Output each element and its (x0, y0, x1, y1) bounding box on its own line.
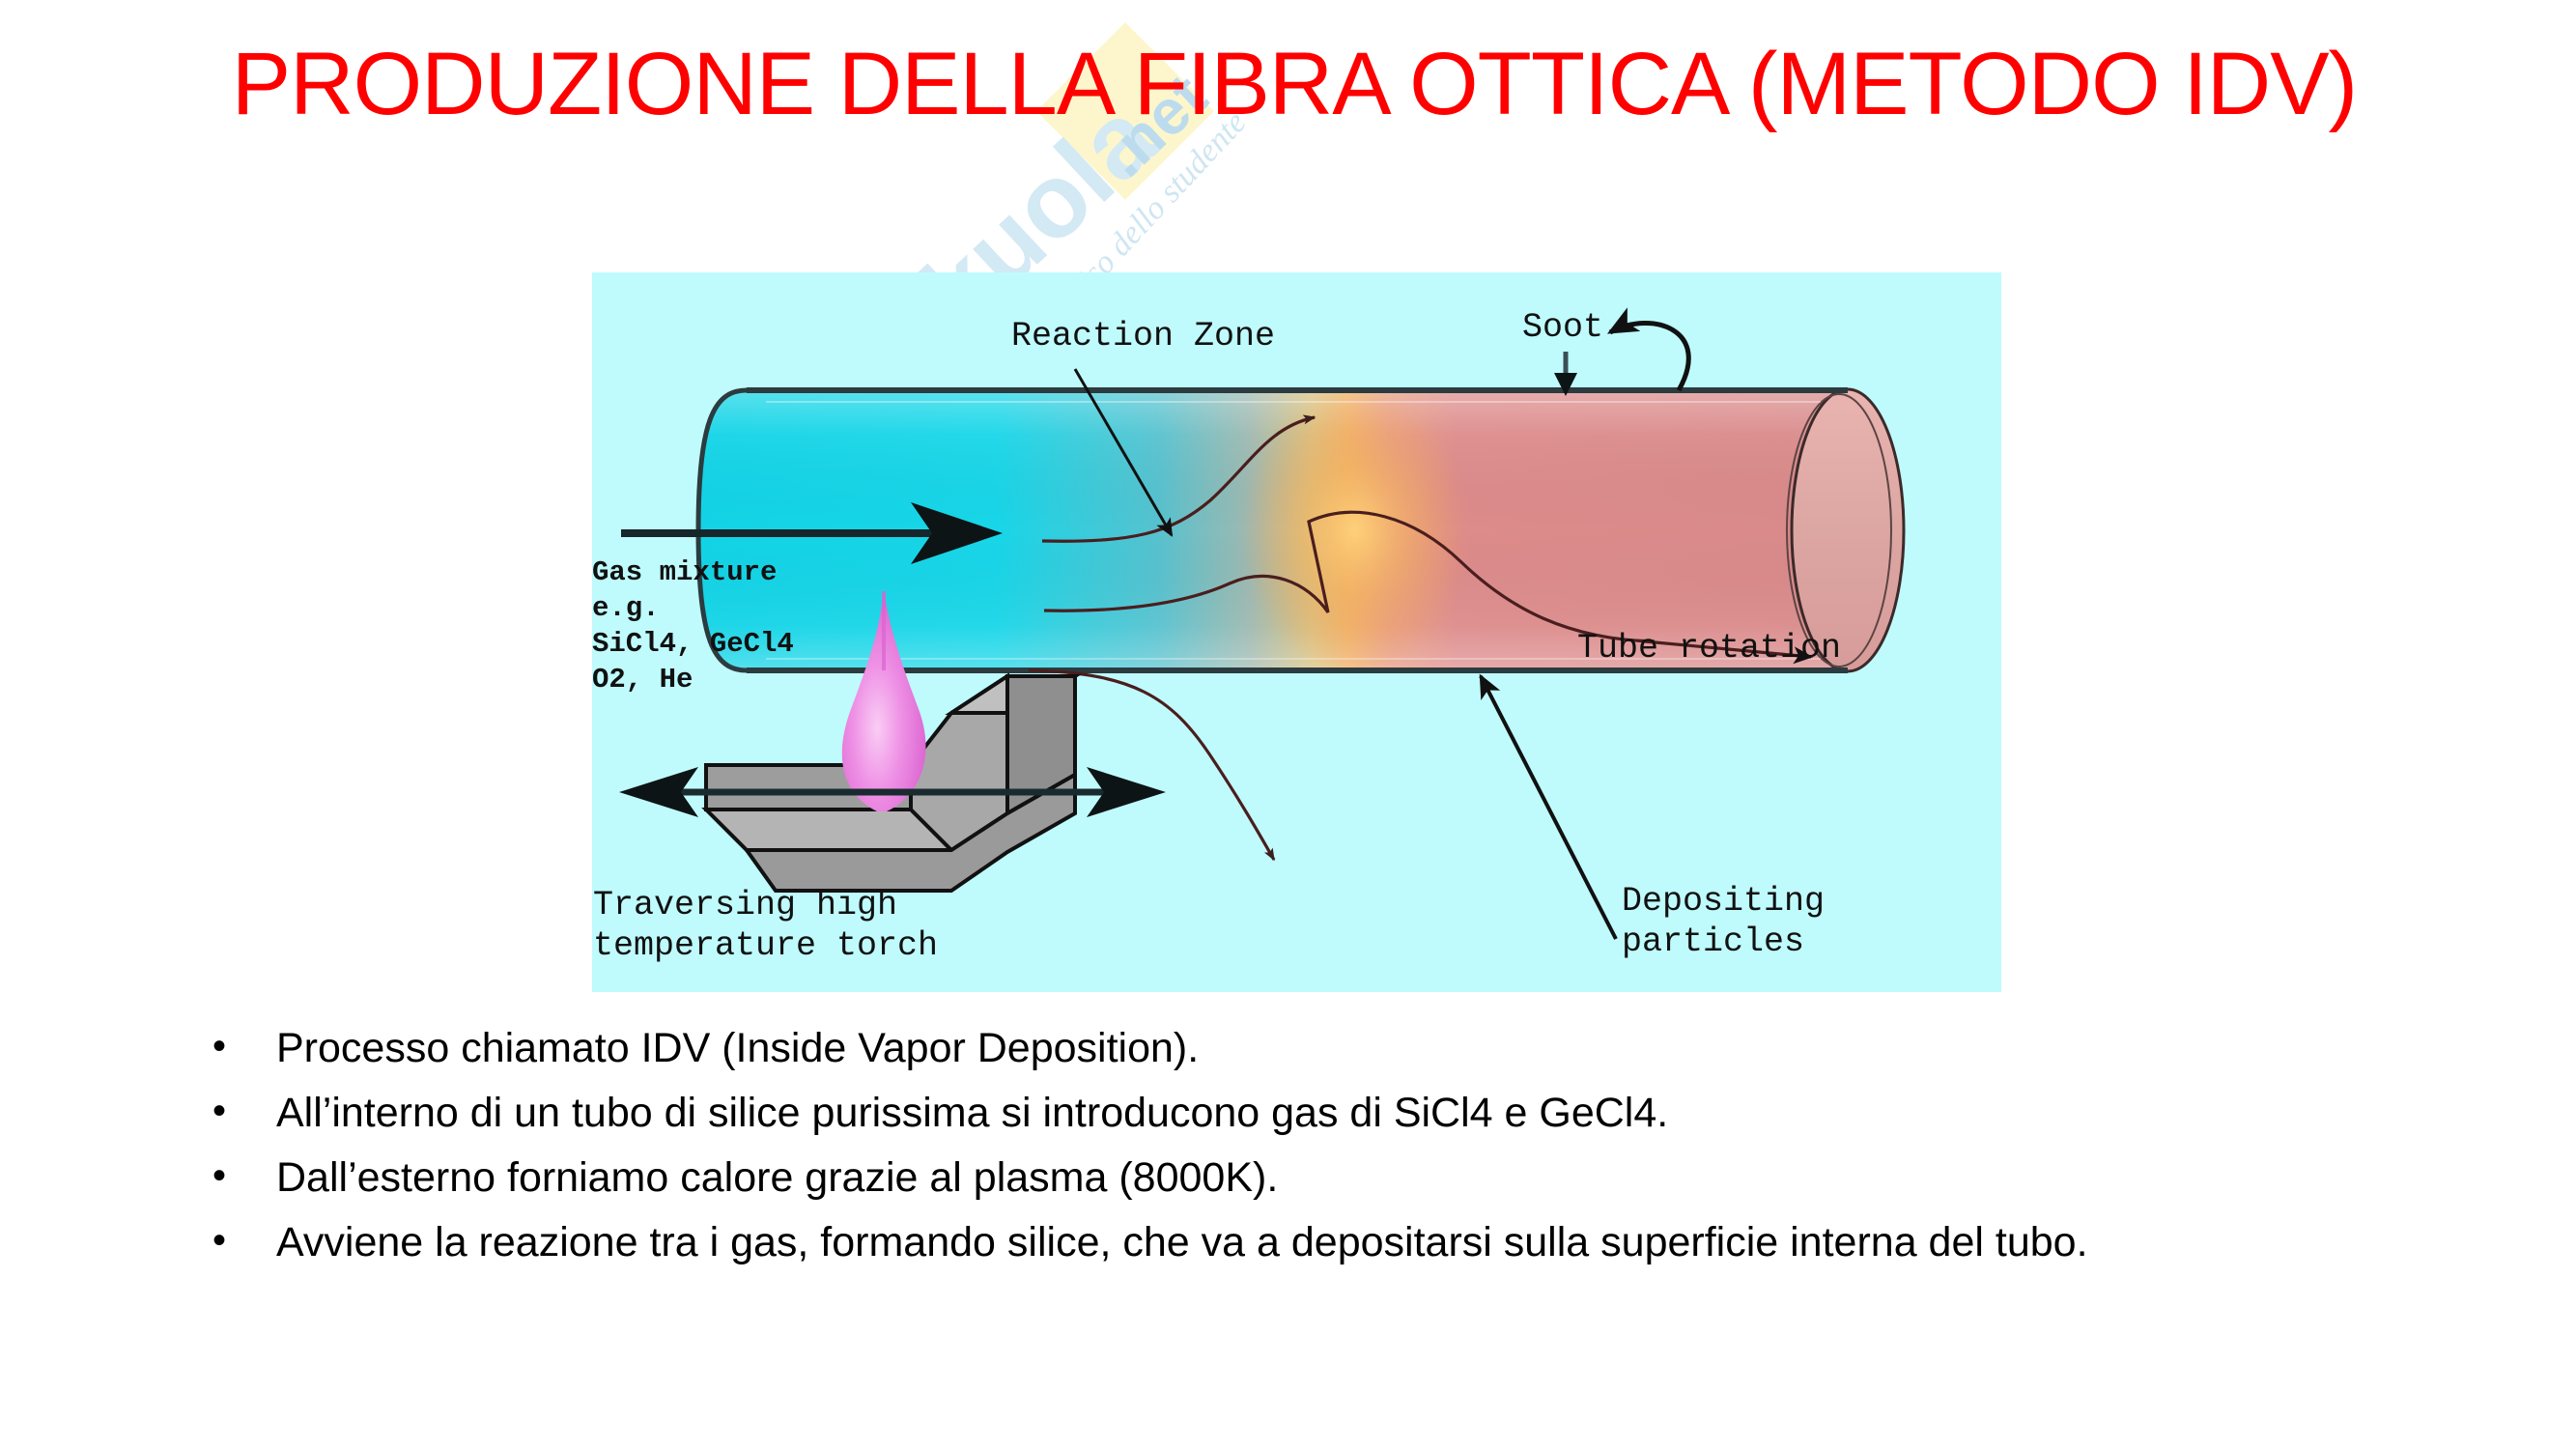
bullet-list: • Processo chiamato IDV (Inside Vapor De… (212, 1019, 2415, 1278)
bullet-marker: • (212, 1149, 276, 1204)
reaction-glow (1239, 385, 1471, 675)
bullet-marker: • (212, 1213, 276, 1268)
list-item: • Dall’esterno forniamo calore grazie al… (212, 1149, 2415, 1207)
gas-label-line1: Gas mixture (592, 556, 777, 588)
idv-process-diagram: Reaction Zone Soot Tube rotation (592, 272, 2001, 992)
torch-label-line2: temperature torch (593, 926, 938, 965)
page-title: PRODUZIONE DELLA FIBRA OTTICA (METODO ID… (58, 37, 2531, 131)
gas-label-line4: O2, He (592, 664, 693, 696)
list-item: • All’interno di un tubo di silice puris… (212, 1084, 2415, 1143)
bullet-text: Avviene la reazione tra i gas, formando … (276, 1213, 2222, 1272)
reaction-zone-label: Reaction Zone (1011, 317, 1275, 355)
soot-label: Soot (1522, 308, 1603, 347)
gas-label-line2: e.g. (592, 592, 660, 624)
depositing-particles-line1: Depositing (1622, 882, 1825, 921)
bullet-text: Dall’esterno forniamo calore grazie al p… (276, 1149, 2222, 1207)
tube-rotation-label: Tube rotation (1577, 629, 1841, 668)
bullet-marker: • (212, 1019, 276, 1074)
depositing-particles-line2: particles (1622, 923, 1804, 961)
bullet-text: Processo chiamato IDV (Inside Vapor Depo… (276, 1019, 2222, 1078)
bullet-text: All’interno di un tubo di silice purissi… (276, 1084, 2222, 1143)
list-item: • Avviene la reazione tra i gas, formand… (212, 1213, 2415, 1272)
gas-label-line3: SiCl4, GeCl4 (592, 628, 794, 660)
list-item: • Processo chiamato IDV (Inside Vapor De… (212, 1019, 2415, 1078)
torch-label-line1: Traversing high (593, 886, 897, 924)
bullet-marker: • (212, 1084, 276, 1139)
